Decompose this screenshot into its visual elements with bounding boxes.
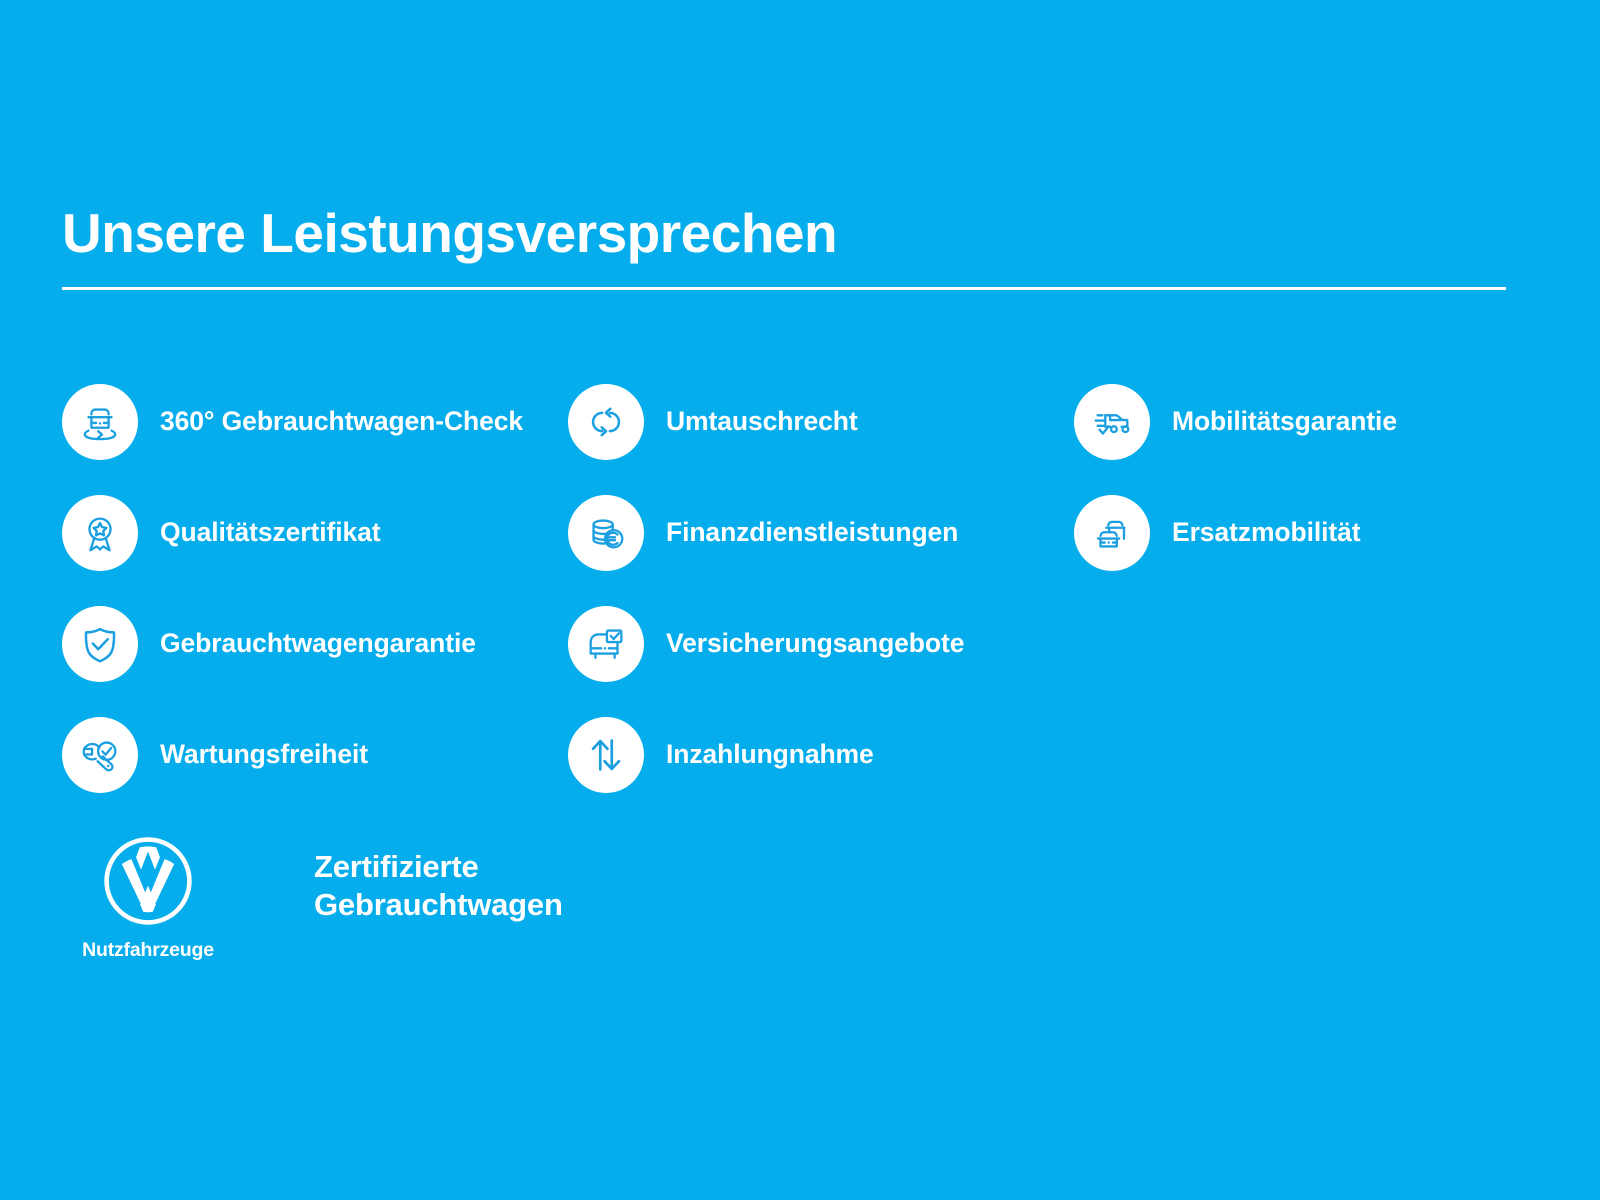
award-rosette-star-icon [77, 510, 123, 556]
badge-circle [568, 717, 644, 793]
feature-label: Mobilitätsgarantie [1172, 406, 1397, 437]
exchange-arrows-icon [583, 399, 629, 445]
feature-item-umtauschrecht[interactable]: Umtauschrecht [568, 366, 1074, 477]
title-divider [62, 287, 1506, 290]
feature-label: Qualitätszertifikat [160, 517, 380, 548]
brand-claim-line-1: Zertifizierte [314, 848, 563, 886]
feature-item-inzahlungnahme[interactable]: Inzahlungnahme [568, 699, 1074, 810]
badge-circle [568, 606, 644, 682]
brand-sub-label: Nutzfahrzeuge [82, 939, 214, 962]
slide-canvas: Unsere Leistungsversprechen 360° Gebrauc… [0, 0, 1600, 1200]
volkswagen-logo [102, 835, 194, 927]
feature-label: Versicherungsangebote [666, 628, 964, 659]
feature-item-gebrauchtwagengarantie[interactable]: Gebrauchtwagengarantie [62, 588, 568, 699]
arrows-up-down-icon [583, 732, 629, 778]
badge-circle [1074, 495, 1150, 571]
feature-label: Gebrauchtwagengarantie [160, 628, 476, 659]
feature-label: 360° Gebrauchtwagen-Check [160, 406, 523, 437]
feature-item-ersatzmobilitaet[interactable]: Ersatzmobilität [1074, 477, 1494, 588]
feature-item-versicherungsangebote[interactable]: Versicherungsangebote [568, 588, 1074, 699]
brand-claim-line-2: Gebrauchtwagen [314, 886, 563, 924]
brand-claim: Zertifizierte Gebrauchtwagen [314, 848, 563, 924]
feature-item-mobilitaetsgarantie[interactable]: Mobilitätsgarantie [1074, 366, 1494, 477]
badge-circle [62, 495, 138, 571]
feature-label: Ersatzmobilität [1172, 517, 1360, 548]
badge-circle [1074, 384, 1150, 460]
feature-label: Wartungsfreiheit [160, 739, 368, 770]
page-title: Unsere Leistungsversprechen [62, 206, 1506, 261]
van-motion-lines-icon [1089, 399, 1135, 445]
feature-item-wartungsfreiheit[interactable]: Wartungsfreiheit [62, 699, 568, 810]
brand-logo-wrap: Nutzfahrzeuge [62, 835, 234, 962]
two-cars-icon [1089, 510, 1135, 556]
shield-check-icon [77, 621, 123, 667]
feature-item-360-check[interactable]: 360° Gebrauchtwagen-Check [62, 366, 568, 477]
feature-label: Finanzdienstleistungen [666, 517, 958, 548]
badge-circle [62, 606, 138, 682]
badge-circle [62, 717, 138, 793]
wrench-check-icon [77, 732, 123, 778]
feature-label: Umtauschrecht [666, 406, 858, 437]
van-checkbox-icon [583, 621, 629, 667]
badge-circle [568, 495, 644, 571]
feature-grid: 360° Gebrauchtwagen-Check Umtauschrecht [62, 366, 1522, 810]
badge-circle [568, 384, 644, 460]
feature-item-qualitaetszertifikat[interactable]: Qualitätszertifikat [62, 477, 568, 588]
feature-label: Inzahlungnahme [666, 739, 874, 770]
car-360-rotation-icon [77, 399, 123, 445]
badge-circle [62, 384, 138, 460]
feature-item-finanzdienstleistungen[interactable]: Finanzdienstleistungen [568, 477, 1074, 588]
header: Unsere Leistungsversprechen [62, 206, 1506, 290]
coins-euro-icon [583, 510, 629, 556]
brand-block: Nutzfahrzeuge Zertifizierte Gebrauchtwag… [62, 835, 563, 962]
